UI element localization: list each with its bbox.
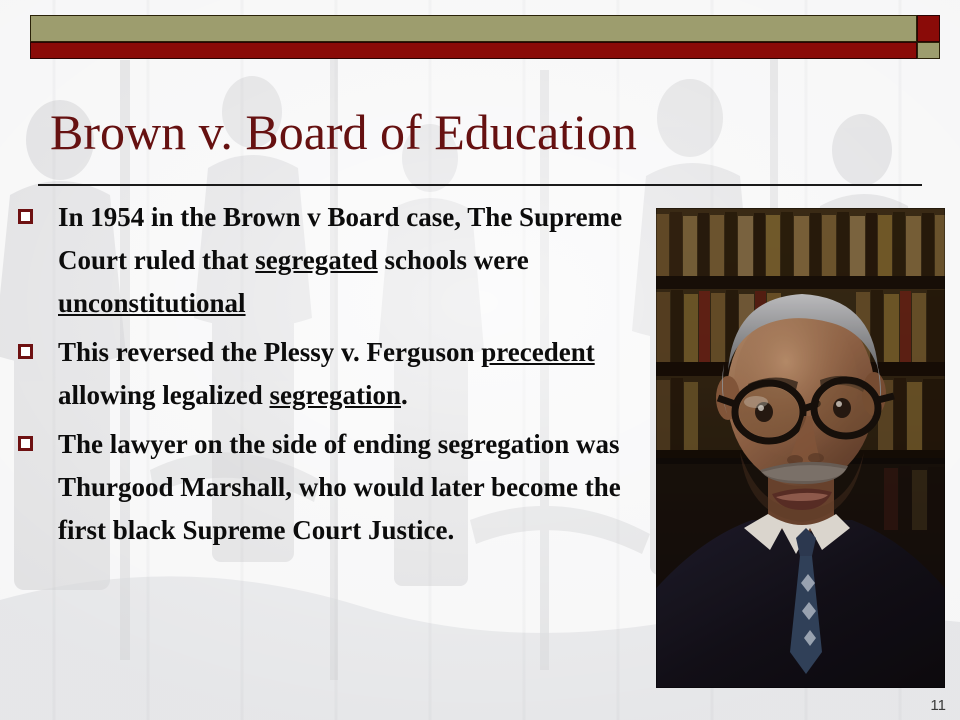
slide-title: Brown v. Board of Education xyxy=(50,103,920,161)
bullet-text-run: allowing legalized xyxy=(58,380,270,410)
square-bullet-icon xyxy=(18,436,33,451)
bullet-text: The lawyer on the side of ending segrega… xyxy=(58,429,621,545)
olive-square xyxy=(917,42,940,59)
bullet-list-item: The lawyer on the side of ending segrega… xyxy=(12,423,672,552)
bullet-text-run: schools were xyxy=(378,245,529,275)
slide-number: 11 xyxy=(930,697,946,714)
olive-bar xyxy=(30,15,917,42)
emphasized-term: segregation xyxy=(270,380,401,410)
thurgood-marshall-photo xyxy=(656,208,945,688)
emphasized-term: unconstitutional xyxy=(58,288,246,318)
red-bar xyxy=(30,42,917,59)
bullet-text: This reversed the Plessy v. Ferguson pre… xyxy=(58,337,595,410)
bullet-text: In 1954 in the Brown v Board case, The S… xyxy=(58,202,622,318)
bullet-text-run: . xyxy=(401,380,408,410)
header-decoration xyxy=(30,15,940,59)
header-bar-row-top xyxy=(30,15,940,42)
square-bullet-icon xyxy=(18,344,33,359)
red-square xyxy=(917,15,940,42)
bullet-list: In 1954 in the Brown v Board case, The S… xyxy=(12,196,672,558)
emphasized-term: precedent xyxy=(481,337,594,367)
header-bar-row-bottom xyxy=(30,42,940,59)
presentation-slide: Brown v. Board of Education In 1954 in t… xyxy=(0,0,960,720)
bullet-text-run: This reversed the Plessy v. Ferguson xyxy=(58,337,481,367)
emphasized-term: segregated xyxy=(255,245,377,275)
bullet-list-item: In 1954 in the Brown v Board case, The S… xyxy=(12,196,672,325)
title-divider-rule xyxy=(38,184,922,186)
bullet-text-run: The lawyer on the side of ending segrega… xyxy=(58,429,621,545)
bullet-list-item: This reversed the Plessy v. Ferguson pre… xyxy=(12,331,672,417)
square-bullet-icon xyxy=(18,209,33,224)
